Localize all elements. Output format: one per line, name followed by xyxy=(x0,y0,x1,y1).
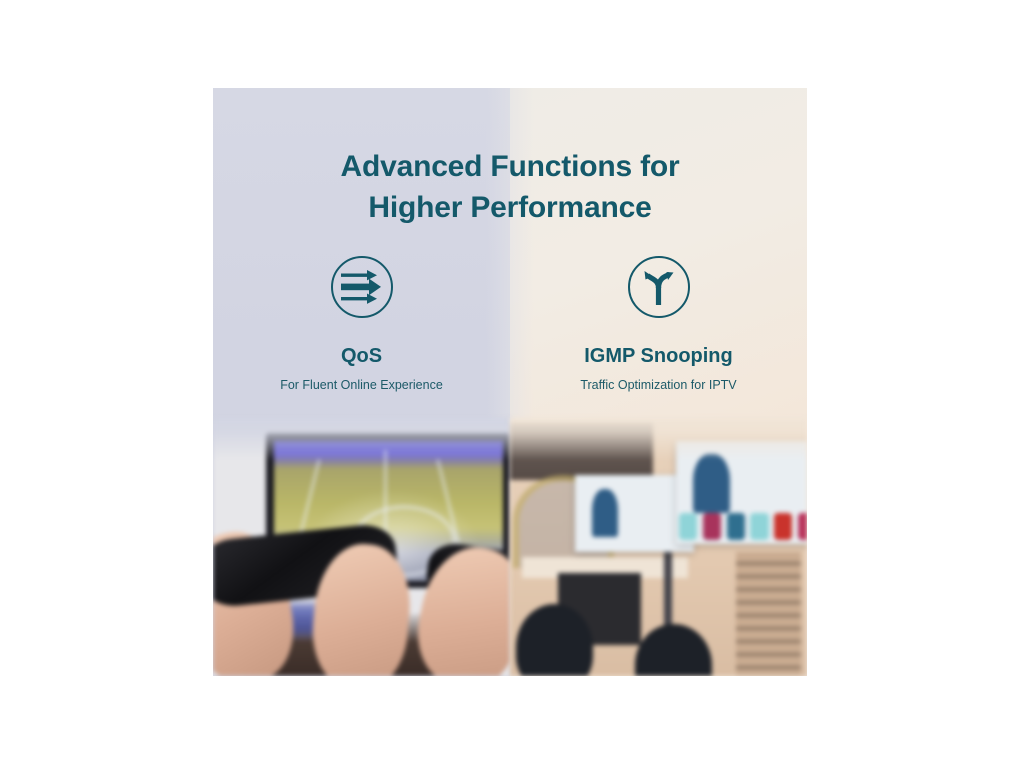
headline-line-1: Advanced Functions for xyxy=(213,146,807,187)
banner-content: Advanced Functions for Higher Performanc… xyxy=(213,88,807,676)
feature-title: QoS xyxy=(213,344,510,368)
feature-subtitle: Traffic Optimization for IPTV xyxy=(510,377,807,393)
feature-subtitle: For Fluent Online Experience xyxy=(213,377,510,393)
branching-fork-arrow-icon xyxy=(628,256,690,318)
headline-line-2: Higher Performance xyxy=(213,187,807,228)
feature-igmp-snooping: IGMP Snooping Traffic Optimization for I… xyxy=(510,256,807,393)
feature-qos: QoS For Fluent Online Experience xyxy=(213,256,510,393)
three-arrows-icon xyxy=(331,256,393,318)
feature-list: QoS For Fluent Online Experience xyxy=(213,256,807,393)
feature-title: IGMP Snooping xyxy=(510,344,807,368)
page-canvas: Advanced Functions for Higher Performanc… xyxy=(0,0,1024,768)
feature-banner: Advanced Functions for Higher Performanc… xyxy=(213,88,807,676)
page-title: Advanced Functions for Higher Performanc… xyxy=(213,146,807,228)
